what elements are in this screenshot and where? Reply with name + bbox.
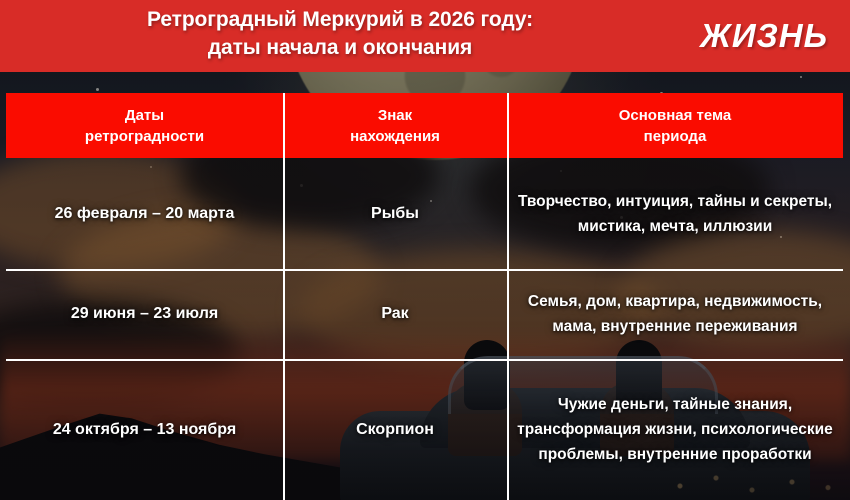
table-row: 24 октября – 13 ноября Скорпион Чужие де… [6, 359, 843, 500]
table-row: 26 февраля – 20 марта Рыбы Творчество, и… [6, 158, 843, 269]
column-header-dates-line1: Даты [125, 107, 164, 124]
row-divider [6, 269, 843, 271]
page-title: Ретроградный Меркурий в 2026 году: даты … [40, 6, 640, 62]
table-header-row: Даты ретроградности Знак нахождения Осно… [6, 93, 843, 158]
cell-theme: Чужие деньги, тайные знания, трансформац… [507, 359, 843, 500]
column-header-sign-line2: нахождения [350, 128, 440, 145]
infographic-root: Ретроградный Меркурий в 2026 году: даты … [0, 0, 850, 500]
column-header-theme: Основная тема периода [507, 93, 843, 158]
brand-logo: ЖИЗНЬ [700, 17, 828, 55]
cell-sign: Рак [283, 269, 507, 359]
page-title-line2: даты начала и окончания [40, 34, 640, 62]
column-header-theme-line2: периода [644, 128, 707, 145]
page-title-line1: Ретроградный Меркурий в 2026 году: [40, 6, 640, 34]
cell-dates: 26 февраля – 20 марта [6, 158, 283, 269]
column-header-dates-line2: ретроградности [85, 128, 204, 145]
column-header-dates: Даты ретроградности [6, 93, 283, 158]
column-divider [283, 93, 285, 500]
cell-dates: 29 июня – 23 июля [6, 269, 283, 359]
header-banner: Ретроградный Меркурий в 2026 году: даты … [0, 0, 850, 72]
retrograde-table: Даты ретроградности Знак нахождения Осно… [6, 93, 843, 500]
cell-dates: 24 октября – 13 ноября [6, 359, 283, 500]
cell-sign: Рыбы [283, 158, 507, 269]
table-row: 29 июня – 23 июля Рак Семья, дом, кварти… [6, 269, 843, 359]
row-divider [6, 359, 843, 361]
column-header-sign-line1: Знак [378, 107, 412, 124]
cell-theme: Семья, дом, квартира, недвижимость, мама… [507, 269, 843, 359]
cell-theme: Творчество, интуиция, тайны и секреты, м… [507, 158, 843, 269]
column-header-theme-line1: Основная тема [619, 107, 732, 124]
column-divider [507, 93, 509, 500]
column-header-sign: Знак нахождения [283, 93, 507, 158]
cell-sign: Скорпион [283, 359, 507, 500]
